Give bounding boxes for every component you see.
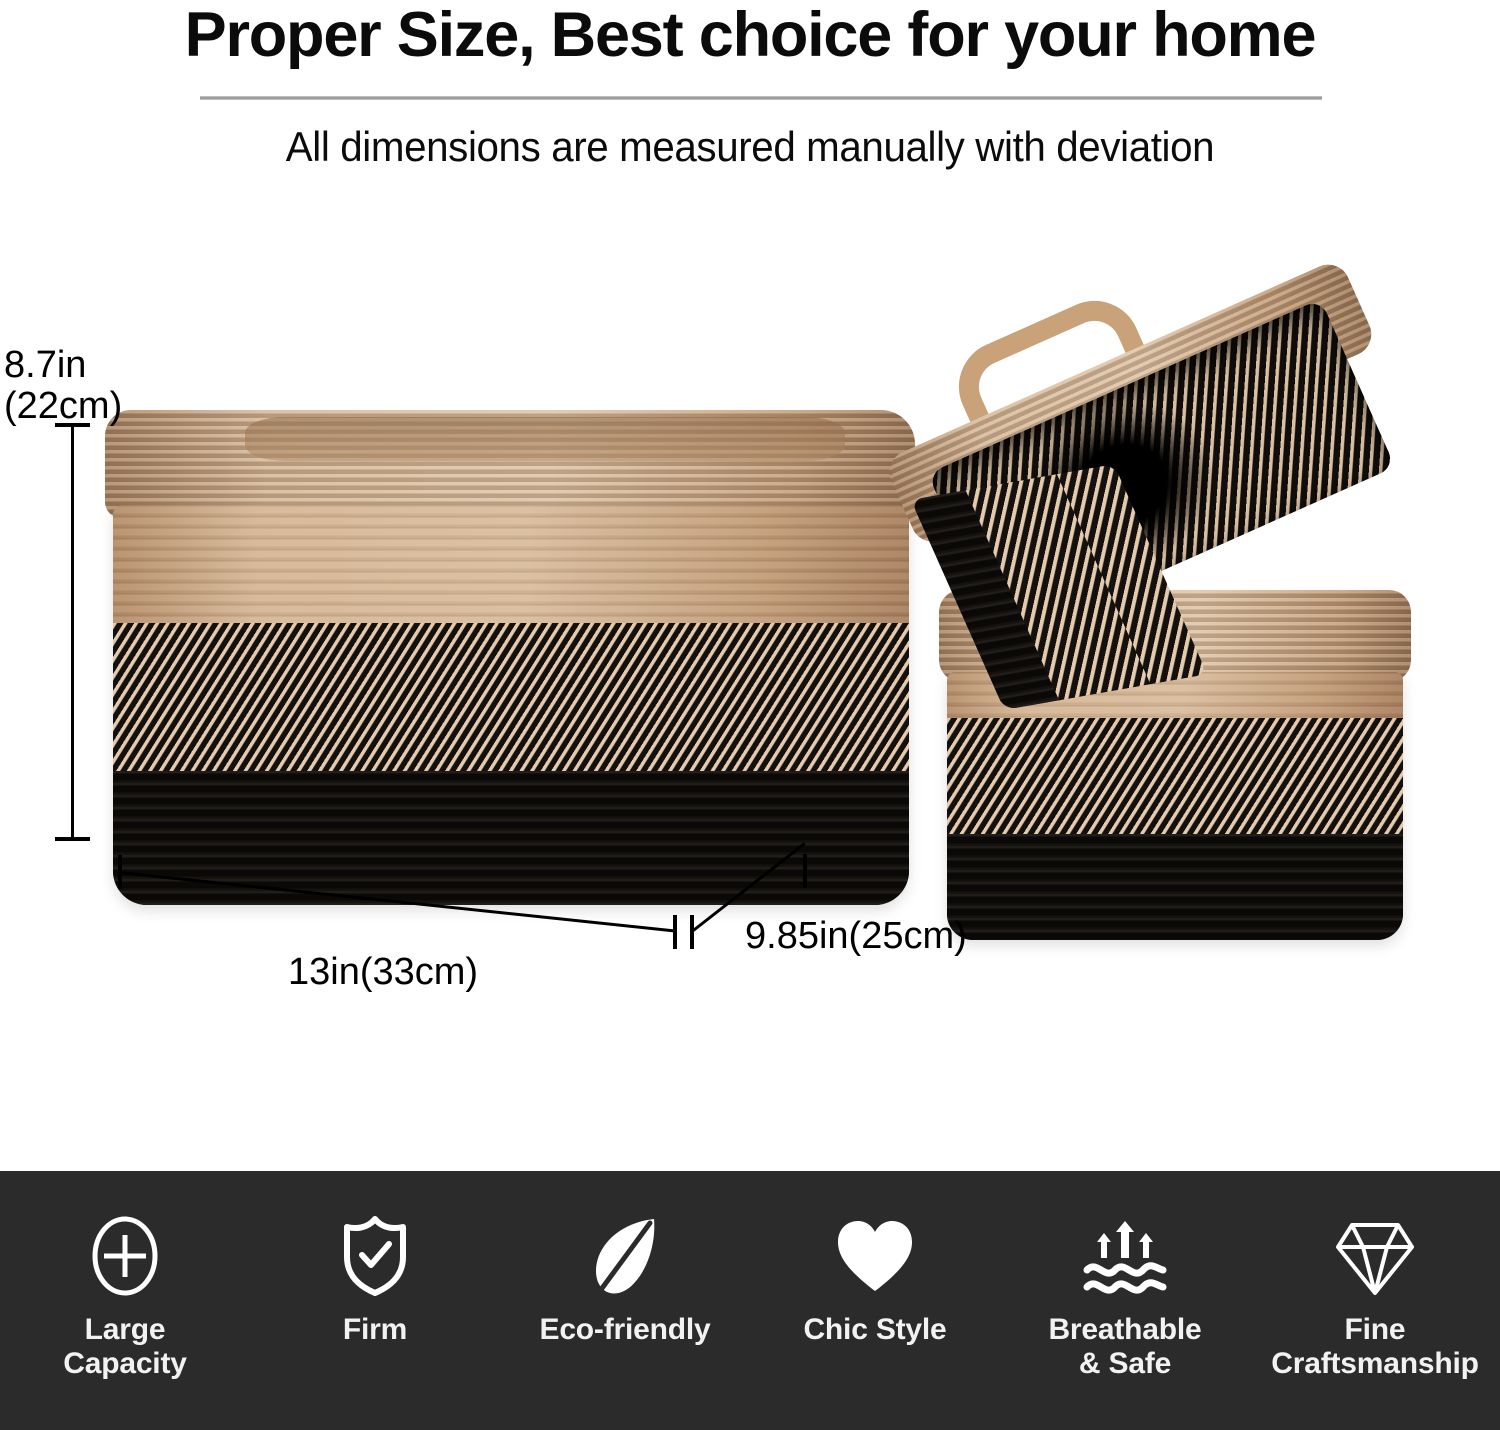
- band-speckled-middle: [113, 623, 909, 773]
- feature-large-capacity: Large Capacity: [0, 1171, 250, 1380]
- breathable-waves-icon: [1077, 1213, 1173, 1299]
- basket-body: [113, 505, 909, 905]
- feature-label: Chic Style: [803, 1313, 946, 1347]
- height-dimension-line: [71, 424, 74, 840]
- basket-main-large: [95, 355, 925, 915]
- page-subtitle: All dimensions are measured manually wit…: [30, 123, 1470, 171]
- feature-firm: Firm: [250, 1171, 500, 1347]
- feature-breathable-safe: Breathable & Safe: [1000, 1171, 1250, 1380]
- feature-label: Firm: [343, 1313, 407, 1347]
- band-tan-top: [113, 505, 909, 625]
- width-dimension-label: 13in(33cm): [288, 952, 478, 993]
- header-divider: [200, 96, 1322, 100]
- feature-label: Eco-friendly: [540, 1313, 711, 1347]
- feature-label: Fine Craftsmanship: [1271, 1313, 1478, 1380]
- feature-eco-friendly: Eco-friendly: [500, 1171, 750, 1347]
- basket-rim-inner-shadow: [245, 417, 845, 461]
- width-dimension-cap-right: [673, 915, 677, 949]
- height-dimension-label: 8.7in (22cm): [4, 345, 122, 427]
- feature-bar: Large Capacity Firm Eco-friendly: [0, 1171, 1500, 1430]
- feature-fine-craftsmanship: Fine Craftsmanship: [1250, 1171, 1500, 1380]
- shield-check-icon: [337, 1213, 413, 1299]
- feature-label: Breathable & Safe: [1048, 1313, 1201, 1380]
- heart-icon: [832, 1213, 918, 1299]
- page-title: Proper Size, Best choice for your home: [0, 2, 1500, 68]
- depth-dimension-cap-far: [803, 854, 807, 888]
- depth-dimension-label: 9.85in(25cm): [745, 916, 967, 957]
- height-dimension-cap-bottom: [55, 837, 90, 841]
- leaf-icon: [584, 1213, 666, 1299]
- infographic-canvas: Proper Size, Best choice for your home A…: [0, 0, 1500, 1430]
- band-black-bottom: [947, 834, 1403, 940]
- feature-label: Large Capacity: [63, 1313, 186, 1380]
- circle-plus-icon: [87, 1213, 163, 1299]
- diamond-icon: [1332, 1213, 1418, 1299]
- feature-chic-style: Chic Style: [750, 1171, 1000, 1347]
